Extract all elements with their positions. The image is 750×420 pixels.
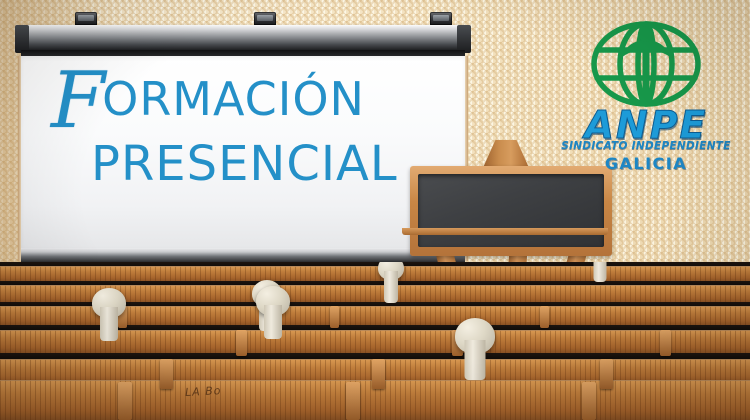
headline-line-one: FORMACIÓN [21,62,465,122]
screen-roller-endcap-left [15,25,29,53]
seat-armrest [372,359,385,389]
seat-armrest [118,382,132,420]
screen-roller-endcap-right [457,25,471,53]
screen-roller-housing [18,25,468,51]
seat-headrest-knob [92,288,126,318]
seat-headrest-knob [455,318,495,354]
seat-armrest [160,359,173,389]
mount-bracket-icon [430,12,452,25]
logo-tagline: SINDICATO INDEPENDIENTE [558,140,734,152]
anpe-logo: ANPE SINDICATO INDEPENDIENTE GALICIA [558,18,734,166]
logo-region: GALICIA [558,154,734,173]
headline-line-one-text: ORMACIÓN [102,72,365,126]
chalkboard-surface [418,174,604,247]
seat-armrest [330,306,339,328]
lecture-hall-seating: LA Bo [0,262,750,420]
chalkboard [410,166,612,256]
seat-armrest [540,306,549,328]
poster-canvas: FORMACIÓN PRESENCIAL [0,0,750,420]
seat-armrest [236,330,247,356]
mount-bracket-icon [75,12,97,25]
seat-armrest [582,382,596,420]
seat-armrest [660,330,671,356]
mount-bracket-icon [254,12,276,25]
seat-armrest [346,382,360,420]
logo-wordmark: ANPE [558,106,734,144]
screen-mount-brackets [18,12,468,26]
seat-graffiti: LA Bo [185,384,222,399]
headline-drop-cap: F [51,56,106,146]
globe-icon [586,18,706,110]
seat-headrest-knob [256,286,290,316]
chalkboard-ledge [402,228,608,235]
seat-armrest [600,359,613,389]
